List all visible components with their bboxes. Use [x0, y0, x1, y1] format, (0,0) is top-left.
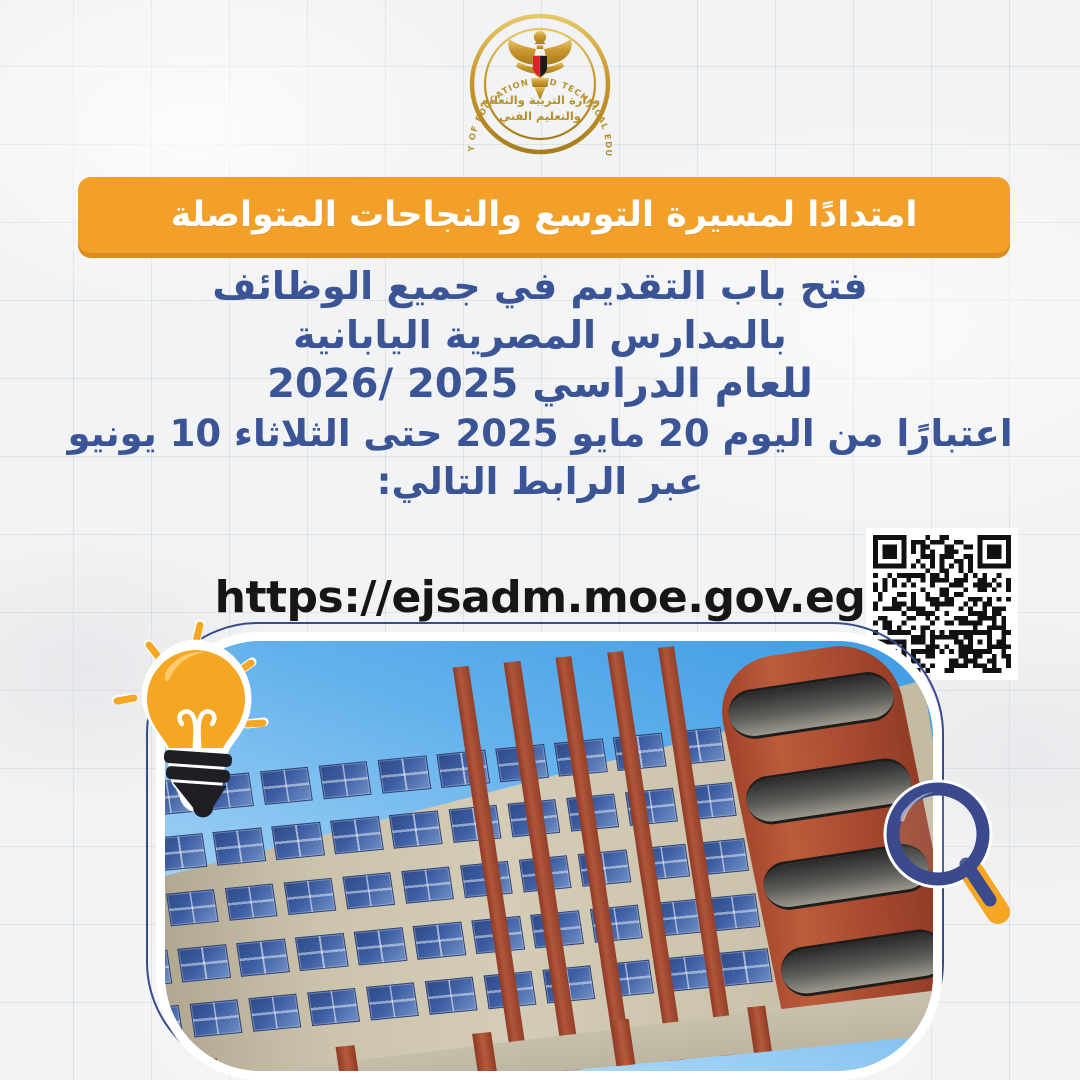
- window: [366, 983, 419, 1021]
- window: [342, 872, 395, 910]
- window: [389, 811, 442, 849]
- window: [248, 994, 301, 1032]
- window: [224, 883, 277, 921]
- window: [213, 828, 266, 866]
- window: [166, 889, 219, 927]
- window: [236, 939, 289, 977]
- logo-arabic-line2: والتعليم الفني: [499, 109, 581, 124]
- window: [330, 817, 383, 855]
- lightbulb-icon: [104, 612, 304, 827]
- window: [319, 761, 372, 799]
- window: [401, 866, 454, 904]
- highlight-banner: امتدادًا لمسيرة التوسع والنجاحات المتواص…: [78, 177, 1010, 253]
- window: [295, 933, 348, 971]
- window: [283, 878, 336, 916]
- window: [719, 949, 772, 987]
- window: [165, 950, 172, 988]
- window: [354, 927, 407, 965]
- headline-academic-year: للعام الدراسي 2025 /2026: [0, 359, 1080, 410]
- banner-text: امتدادًا لمسيرة التوسع والنجاحات المتواص…: [171, 195, 918, 235]
- headline-block: فتح باب التقديم في جميع الوظائف بالمدارس…: [0, 262, 1080, 505]
- ministry-logo: MINISTRY OF EDUCATION AND TECHNICAL EDUC…: [460, 8, 620, 158]
- headline-date-range: اعتبارًا من اليوم 20 مايو 2025 حتى الثلا…: [0, 410, 1080, 458]
- window: [177, 944, 230, 982]
- headline-line-1: فتح باب التقديم في جميع الوظائف: [0, 262, 1080, 311]
- window: [165, 1005, 184, 1043]
- window: [413, 922, 466, 960]
- headline-link-label: عبر الرابط التالي:: [0, 459, 1080, 506]
- magnifier-icon: [874, 772, 1024, 952]
- window: [307, 988, 360, 1026]
- window: [189, 1000, 242, 1038]
- tower-balcony: [725, 669, 899, 742]
- window: [272, 822, 325, 860]
- window: [378, 755, 431, 793]
- window: [165, 834, 207, 872]
- headline-line-2: بالمدارس المصرية اليابانية: [0, 311, 1080, 360]
- logo-arabic-line1: وزارة التربية والتعليم: [480, 93, 600, 108]
- window: [425, 977, 478, 1015]
